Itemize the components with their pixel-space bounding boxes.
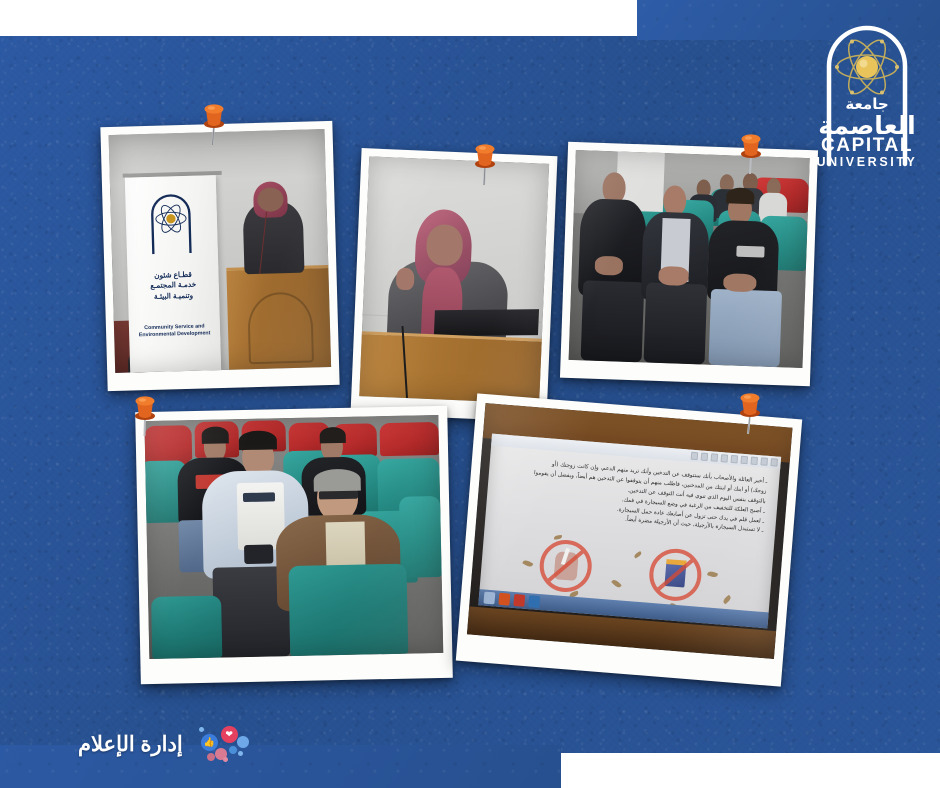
photo-scene-audience-students	[144, 415, 443, 659]
photo-scene-projection-screen: ـ أخبر العائلة والأصحاب بأنك ستتوقف عن ا…	[467, 403, 793, 659]
photo-scene-speaker-closeup	[359, 156, 549, 403]
toolbar-button[interactable]	[750, 456, 758, 465]
taskbar-tile[interactable]	[514, 594, 526, 607]
university-brand-logo: جامعة العاصمة CAPITAL UNIVERSITY	[803, 14, 931, 172]
brand-name-en-secondary: UNIVERSITY	[816, 155, 917, 169]
taskbar-tile[interactable]	[529, 595, 541, 608]
banner-english-text: Community Service and Environmental Deve…	[134, 323, 214, 340]
toolbar-button[interactable]	[700, 452, 708, 461]
bubble-reaction-icon	[237, 736, 249, 748]
toolbar-button[interactable]	[740, 456, 748, 465]
collage-canvas: قطـاع شئون خدمـة المجتمـع وتنميـة البيئـ…	[0, 0, 940, 788]
photo-card-audience-front-row[interactable]	[560, 142, 818, 387]
toolbar-button[interactable]	[720, 454, 728, 463]
bubble-reaction-icon	[238, 751, 243, 756]
love-reaction-icon: ❤	[221, 726, 238, 743]
photo-scene-banner-speaker: قطـاع شئون خدمـة المجتمـع وتنميـة البيئـ…	[109, 129, 332, 373]
toolbar-button[interactable]	[690, 452, 698, 461]
projected-slide: ـ أخبر العائلة والأصحاب بأنك ستتوقف عن ا…	[479, 434, 781, 628]
toolbar-button[interactable]	[770, 458, 778, 467]
toolbar-button[interactable]	[710, 453, 718, 462]
capital-university-logo-icon	[142, 191, 202, 259]
no-cigarette-pack-icon	[648, 547, 704, 603]
bubble-reaction-icon	[199, 727, 204, 732]
photo-card-banner-speaker[interactable]: قطـاع شئون خدمـة المجتمـع وتنميـة البيئـ…	[100, 121, 339, 391]
no-smoking-icon	[538, 538, 594, 594]
photo-card-audience-students[interactable]	[135, 406, 453, 684]
social-reactions-icon: 👍 ❤	[197, 722, 253, 766]
bubble-reaction-icon	[207, 753, 215, 761]
brand-name-en-primary: CAPITAL	[821, 135, 913, 156]
photo-scene-audience-front-row	[569, 150, 810, 368]
media-department-label: إدارة الإعلام	[78, 732, 183, 757]
toolbar-button[interactable]	[760, 457, 768, 466]
photo-card-projection-screen[interactable]: ـ أخبر العائلة والأصحاب بأنك ستتوقف عن ا…	[456, 393, 802, 686]
media-department-lockup: إدارة الإعلام 👍 ❤	[78, 722, 253, 766]
bubble-reaction-icon	[223, 757, 228, 762]
photo-card-speaker-closeup[interactable]	[351, 148, 558, 422]
bubble-reaction-icon	[229, 746, 237, 754]
taskbar-tile[interactable]	[484, 592, 496, 605]
banner-arabic-text: قطـاع شئون خدمـة المجتمـع وتنميـة البيئـ…	[135, 269, 212, 303]
toolbar-button[interactable]	[730, 455, 738, 464]
slide-body-text: ـ أخبر العائلة والأصحاب بأنك ستتوقف عن ا…	[497, 457, 767, 537]
taskbar-tile[interactable]	[499, 593, 511, 606]
like-reaction-icon: 👍	[201, 734, 218, 751]
